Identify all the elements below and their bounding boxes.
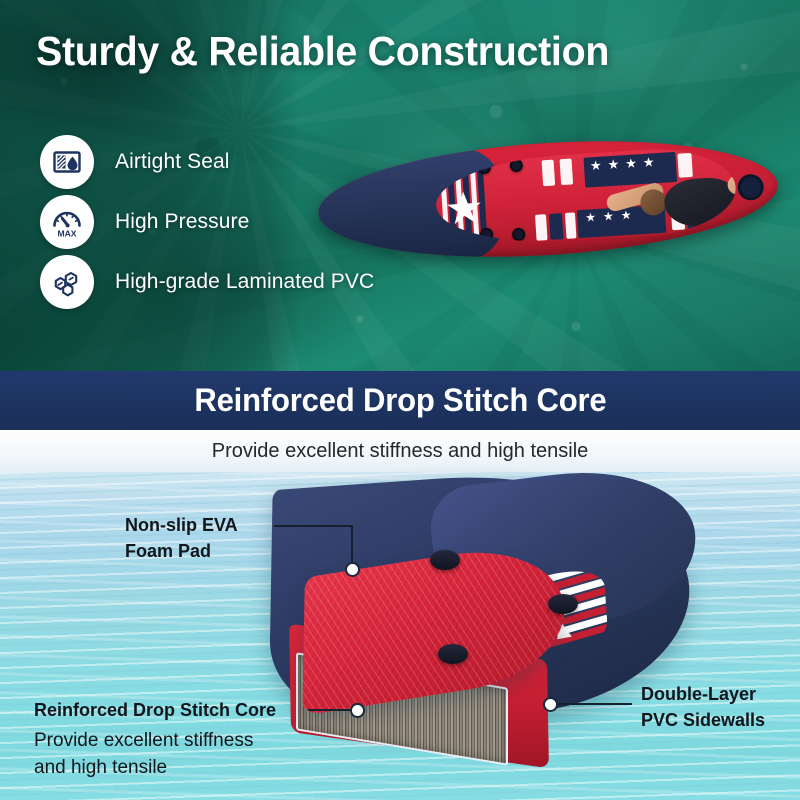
product-infographic: ★ ★★★★ ★★★ <box>0 0 800 800</box>
feature-item-high-pressure: MAX High Pressure <box>40 192 470 252</box>
subtitle-text: Provide excellent stiffness and high ten… <box>212 440 589 463</box>
cutaway-d-ring <box>548 594 578 614</box>
callout-drop-stitch-core-heading: Reinforced Drop Stitch Core <box>34 697 276 723</box>
callout-line: Provide excellent stiffness <box>34 727 253 754</box>
callout-leader-line <box>274 525 352 527</box>
callout-line: and high tensile <box>34 754 253 781</box>
callout-line: PVC Sidewalls <box>641 707 765 733</box>
callout-leader-line <box>556 703 632 705</box>
callout-line: Reinforced Drop Stitch Core <box>34 697 276 723</box>
callout-anchor-dot <box>543 697 558 712</box>
feature-label: High-grade Laminated PVC <box>115 270 374 294</box>
pressure-gauge-max-icon: MAX <box>40 195 94 249</box>
gauge-max-label: MAX <box>57 228 76 238</box>
feature-list: Airtight Seal <box>40 132 470 312</box>
callout-line: Non-slip EVA <box>125 512 238 538</box>
feature-label: Airtight Seal <box>115 150 230 174</box>
feature-item-laminated-pvc: High-grade Laminated PVC <box>40 252 470 312</box>
rider-head <box>640 189 668 217</box>
cutaway-d-ring <box>430 550 460 570</box>
callout-anchor-dot <box>350 703 365 718</box>
feature-item-airtight-seal: Airtight Seal <box>40 132 470 192</box>
rider-figure <box>604 154 738 249</box>
page-title: Sturdy & Reliable Construction <box>36 28 609 75</box>
callout-leader-line <box>351 525 353 567</box>
hexagon-laminate-icon <box>40 255 94 309</box>
board-deck-graphics: ★ ★★★★ ★★★ <box>434 144 739 249</box>
callout-eva-foam-pad-text: Non-slip EVA Foam Pad <box>125 512 238 564</box>
callout-line: Double-Layer <box>641 681 765 707</box>
banner-title: Reinforced Drop Stitch Core <box>194 382 606 419</box>
callout-pvc-sidewalls-text: Double-Layer PVC Sidewalls <box>641 681 765 733</box>
callout-drop-stitch-core-body: Provide excellent stiffness and high ten… <box>34 727 253 781</box>
feature-label: High Pressure <box>115 210 249 234</box>
section-banner: Reinforced Drop Stitch Core <box>0 371 800 430</box>
airtight-seal-icon <box>40 135 94 189</box>
callout-leader-line <box>308 709 352 711</box>
tail-d-ring <box>737 173 765 201</box>
callout-line: Foam Pad <box>125 538 238 564</box>
cutaway-d-ring <box>438 644 468 664</box>
callout-anchor-dot <box>345 562 360 577</box>
top-hero-panel: ★ ★★★★ ★★★ <box>0 0 800 371</box>
